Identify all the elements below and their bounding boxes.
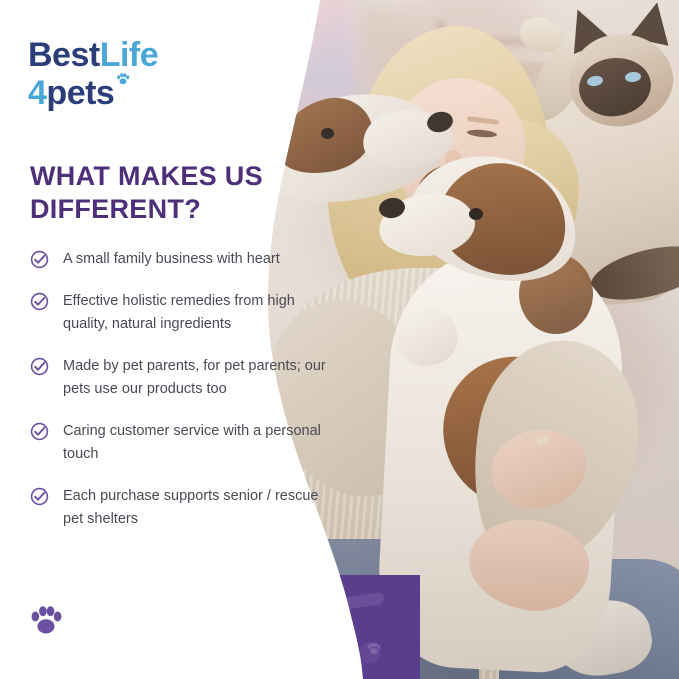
list-item-label: A small family business with heart bbox=[63, 248, 280, 270]
check-circle-icon bbox=[30, 357, 49, 376]
check-circle-icon bbox=[30, 487, 49, 506]
check-circle-icon bbox=[30, 422, 49, 441]
benefits-list: A small family business with heart Effec… bbox=[30, 248, 330, 550]
list-item-label: Each purchase supports senior / rescue p… bbox=[63, 485, 330, 530]
list-item: Each purchase supports senior / rescue p… bbox=[30, 485, 330, 530]
list-item-label: Made by pet parents, for pet parents; ou… bbox=[63, 355, 330, 400]
paw-icon bbox=[366, 641, 382, 656]
list-item: Effective holistic remedies from high qu… bbox=[30, 290, 330, 335]
dog-eye bbox=[469, 208, 483, 220]
brand-word-pets: pets bbox=[46, 74, 114, 112]
paw-icon bbox=[28, 603, 64, 637]
brand-logo: BestLife 4pets bbox=[28, 38, 198, 110]
check-circle-icon bbox=[30, 250, 49, 269]
list-item: A small family business with heart bbox=[30, 248, 330, 270]
list-item-label: Caring customer service with a personal … bbox=[63, 420, 330, 465]
list-item: Made by pet parents, for pet parents; ou… bbox=[30, 355, 330, 400]
marketing-infographic: BestLife 4pets WHAT MAKES US DIFFERENT? bbox=[0, 0, 679, 679]
brand-logo-line-2: 4pets bbox=[28, 76, 198, 110]
bone-icon bbox=[339, 592, 384, 610]
left-content-panel: BestLife 4pets WHAT MAKES US DIFFERENT? bbox=[0, 0, 330, 679]
brand-logo-line-1: BestLife bbox=[28, 38, 198, 72]
list-item-label: Effective holistic remedies from high qu… bbox=[63, 290, 330, 335]
list-item: Caring customer service with a personal … bbox=[30, 420, 330, 465]
check-circle-icon bbox=[30, 292, 49, 311]
page-title: WHAT MAKES US DIFFERENT? bbox=[30, 160, 310, 226]
brand-word-4: 4 bbox=[28, 74, 46, 112]
brand-word-best: Best bbox=[28, 36, 100, 74]
paw-icon bbox=[116, 72, 130, 86]
brand-word-life: Life bbox=[100, 36, 158, 74]
